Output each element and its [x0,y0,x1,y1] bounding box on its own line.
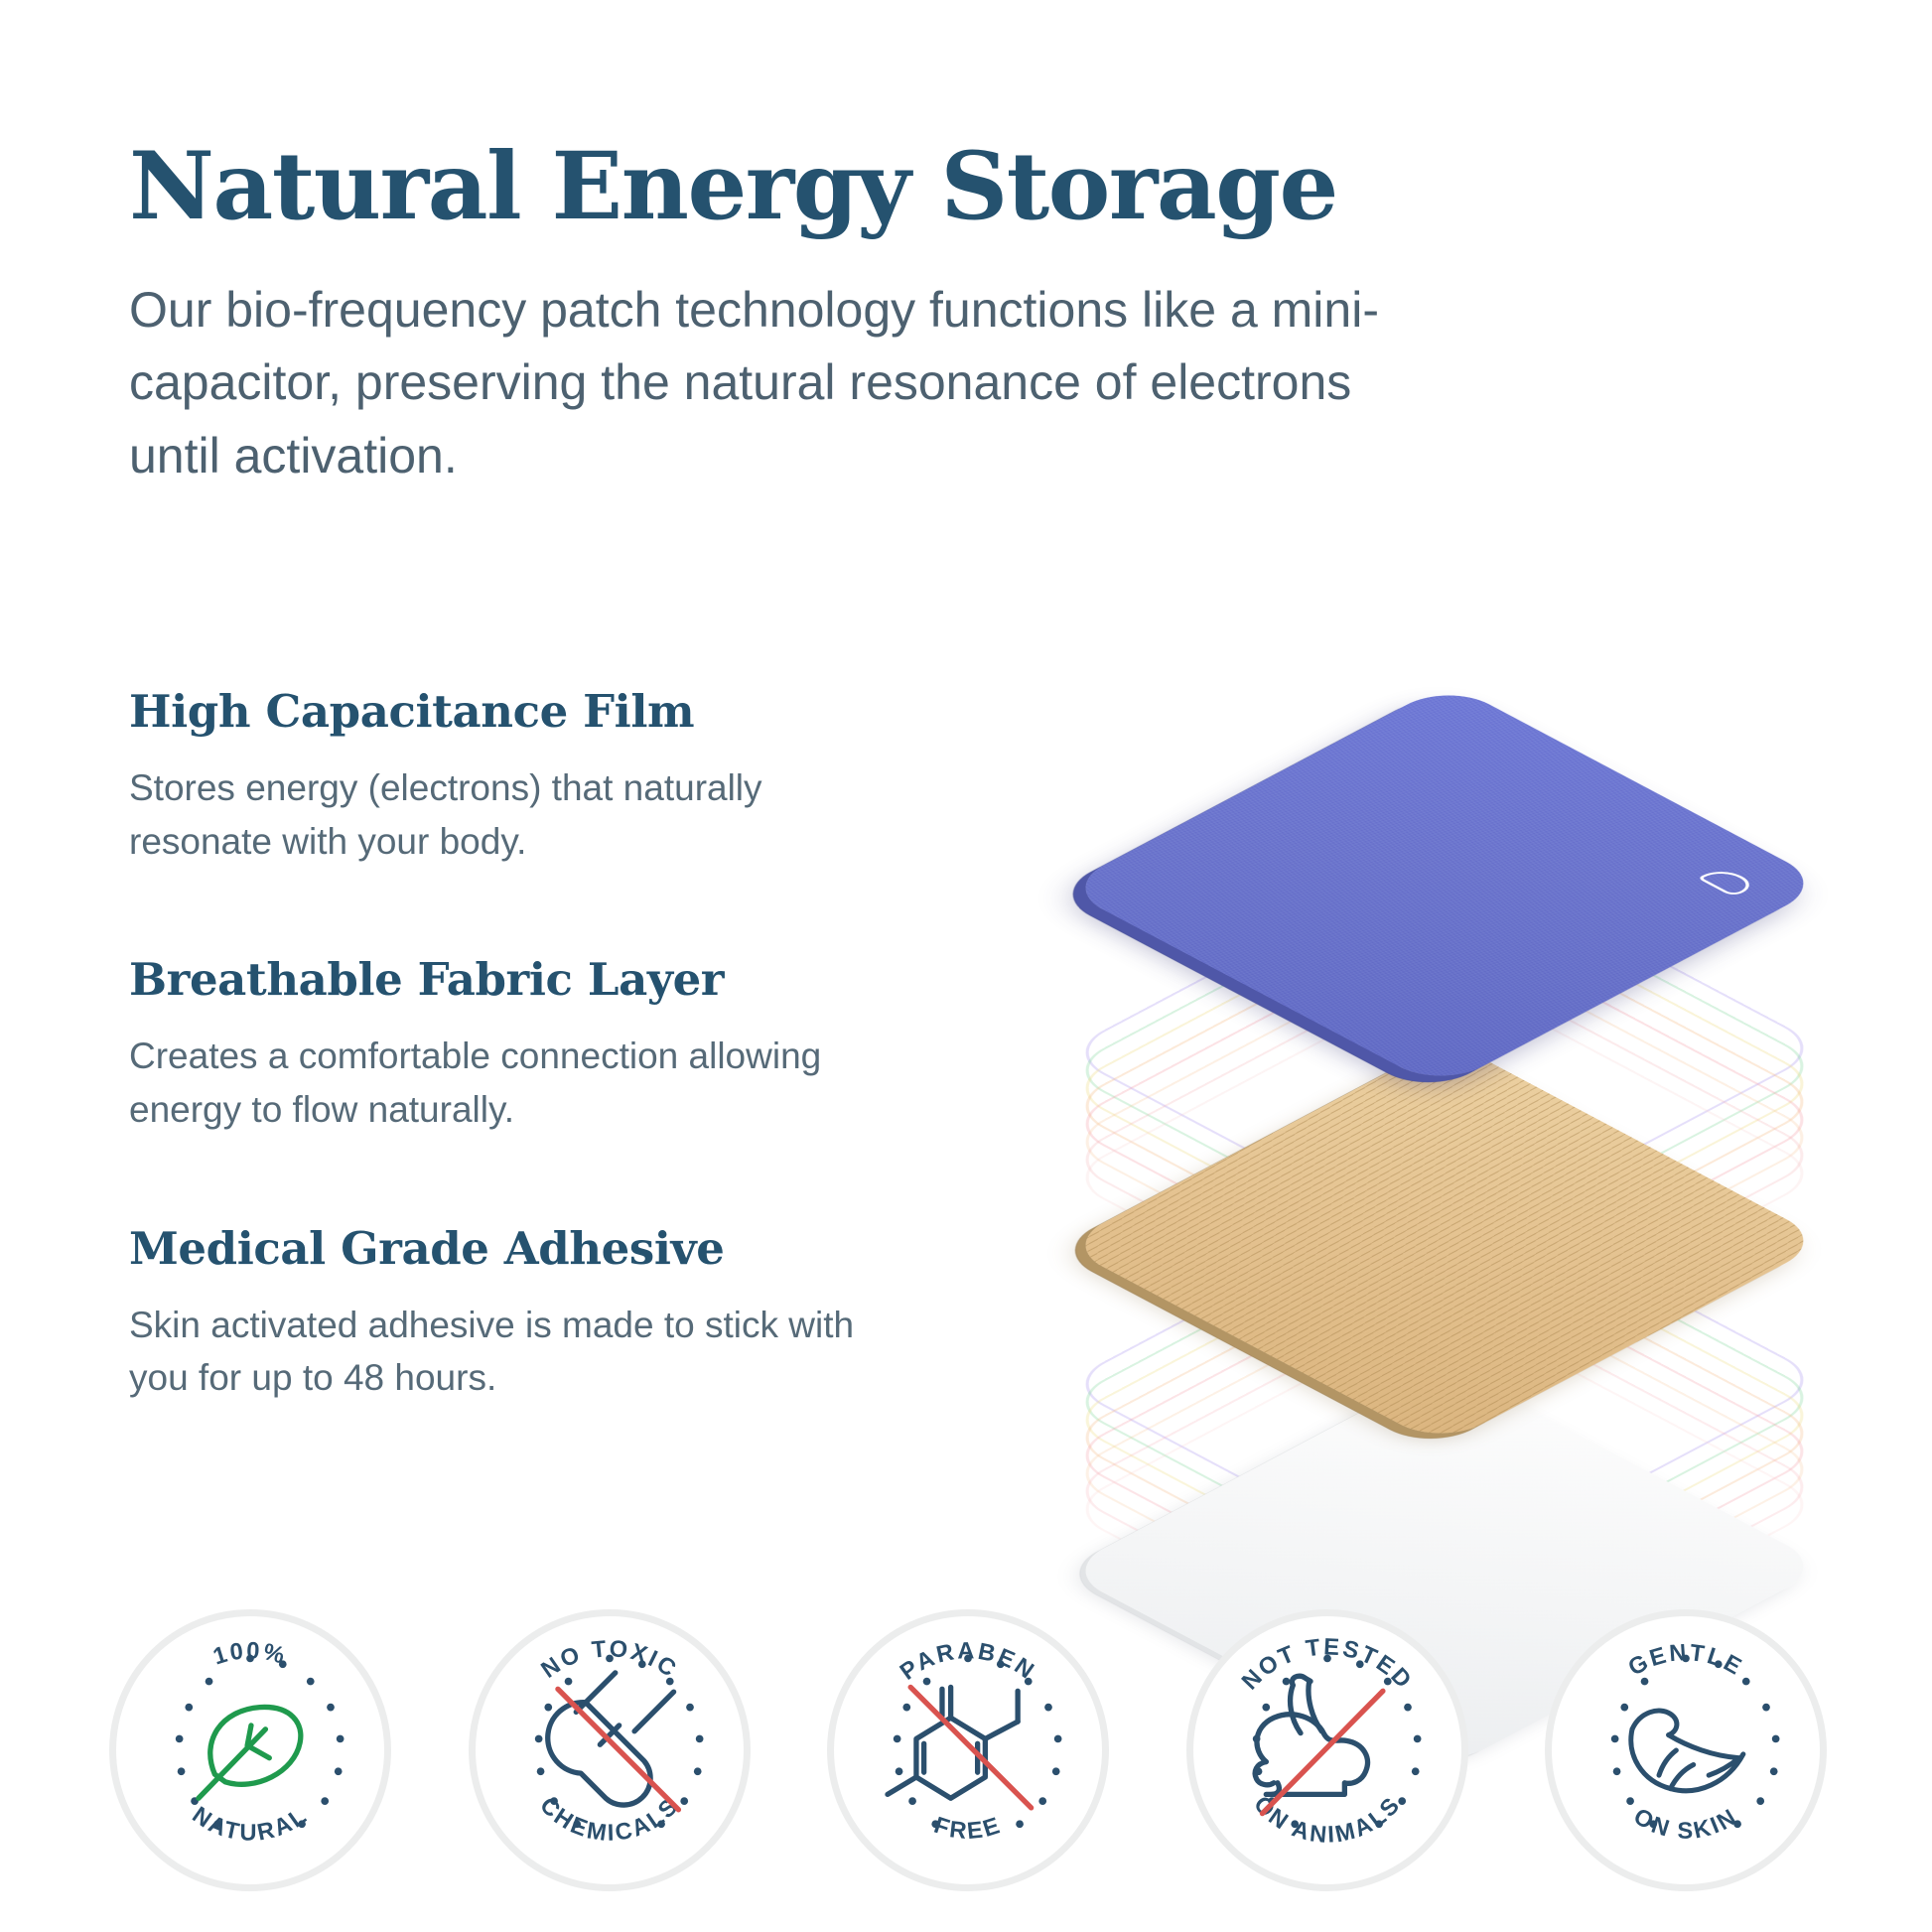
feature-description: Creates a comfortable connection allowin… [129,1030,913,1136]
feature-list: High Capacitance Film Stores energy (ele… [129,685,933,1405]
badge-paraben-free: PARABEN FREE [827,1609,1109,1891]
badge-bottom-label: FREE [931,1813,1006,1846]
feature-title: Medical Grade Adhesive [129,1222,933,1275]
feature-title: Breathable Fabric Layer [129,953,933,1006]
badge-not-tested-on-animals: NOT TESTED ON ANIMALS [1186,1609,1468,1891]
page-subtitle: Our bio-frequency patch technology funct… [129,274,1449,493]
leaf-icon [199,1707,301,1798]
feature-item-high-capacitance-film: High Capacitance Film Stores energy (ele… [129,685,933,868]
feature-title: High Capacitance Film [129,685,933,738]
strike-line [910,1687,1031,1808]
rabbit-icon [1255,1676,1367,1794]
certification-badges: 100% NATURAL [109,1606,1827,1894]
infographic-page: Natural Energy Storage Our bio-frequency… [0,0,1932,1932]
badge-no-toxic-chemicals: NO TOXIC CHEMICALS [469,1609,751,1891]
feature-description: Skin activated adhesive is made to stick… [129,1299,913,1405]
feature-item-medical-grade-adhesive: Medical Grade Adhesive Skin activated ad… [129,1222,933,1405]
badge-gentle-on-skin: GENTLE ON SKIN [1545,1609,1827,1891]
badge-bottom-label: ON SKIN [1629,1804,1743,1845]
feature-item-breathable-fabric-layer: Breathable Fabric Layer Creates a comfor… [129,953,933,1136]
feature-description: Stores energy (electrons) that naturally… [129,761,913,868]
badge-bottom-label: NATURAL [188,1802,314,1846]
dotted-ring [176,1655,345,1829]
badge-top-label: 100% [210,1638,290,1670]
page-title: Natural Energy Storage [129,139,1757,236]
feather-icon [1631,1711,1743,1791]
brand-leaf-logo-icon [1687,861,1764,902]
badge-top-label: PARABEN [896,1638,1039,1685]
badge-top-label: NOT TESTED [1237,1634,1418,1695]
badge-100-natural: 100% NATURAL [109,1609,391,1891]
header: Natural Energy Storage Our bio-frequency… [129,139,1757,492]
exploded-patch-illustration [993,606,1896,1588]
badge-top-label: GENTLE [1624,1640,1747,1682]
